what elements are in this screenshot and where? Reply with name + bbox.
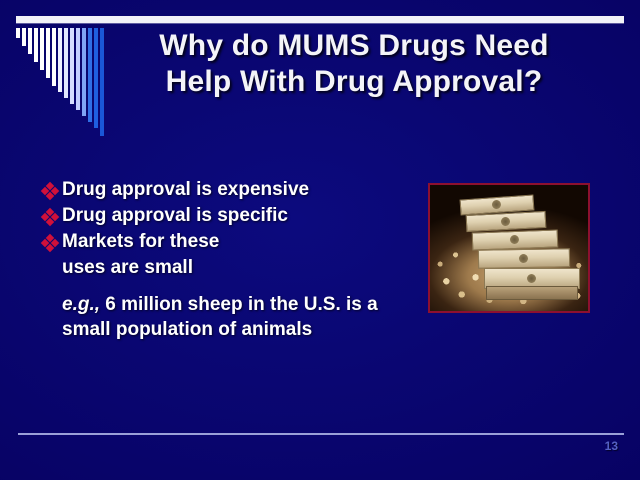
list-item-continuation: uses are small: [62, 256, 420, 280]
cascading-bars-decoration: [16, 28, 112, 140]
presentation-slide: Why do MUMS Drugs Need Help With Drug Ap…: [0, 0, 640, 480]
page-title: Why do MUMS Drugs Need Help With Drug Ap…: [104, 28, 604, 100]
decoration-bar: [40, 28, 44, 70]
decoration-bar: [22, 28, 26, 46]
decoration-bar: [28, 28, 32, 54]
bill-stack-base: [486, 286, 578, 300]
decoration-bar: [88, 28, 92, 122]
example-paragraph: e.g., 6 million sheep in the U.S. is a s…: [62, 292, 420, 342]
title-line-2: Help With Drug Approval?: [104, 64, 604, 100]
example-emphasis: e.g.,: [62, 294, 100, 315]
decoration-bar: [52, 28, 56, 86]
list-item: Drug approval is expensive: [40, 178, 420, 202]
decoration-bar: [58, 28, 62, 92]
body-content: Drug approval is expensive Drug approval…: [40, 178, 420, 342]
list-item-label: Drug approval is specific: [62, 204, 288, 228]
top-divider-rule: [16, 16, 624, 23]
list-item-label: Drug approval is expensive: [62, 178, 309, 202]
money-photo: [428, 183, 590, 313]
bill-stack: [466, 211, 547, 232]
decoration-bar: [94, 28, 98, 128]
decoration-bar: [46, 28, 50, 78]
bill-stack: [478, 248, 570, 269]
diamond-bullet-icon: [40, 178, 62, 202]
decoration-bar: [70, 28, 74, 104]
list-item-label: Markets for these: [62, 230, 219, 254]
list-item: Drug approval is specific: [40, 204, 420, 228]
bill-stack: [472, 230, 559, 251]
money-photo-image: [430, 185, 588, 311]
list-item: Markets for these: [40, 230, 420, 254]
diamond-bullet-icon: [40, 204, 62, 228]
decoration-bar: [82, 28, 86, 116]
title-line-1: Why do MUMS Drugs Need: [104, 28, 604, 64]
decoration-bar: [16, 28, 20, 38]
decoration-bar: [34, 28, 38, 62]
decoration-bar: [76, 28, 80, 110]
example-body: 6 million sheep in the U.S. is a small p…: [62, 294, 378, 340]
diamond-bullet-icon: [40, 230, 62, 254]
decoration-bar: [64, 28, 68, 98]
page-number: 13: [605, 439, 618, 453]
bottom-divider-rule: [18, 433, 624, 435]
